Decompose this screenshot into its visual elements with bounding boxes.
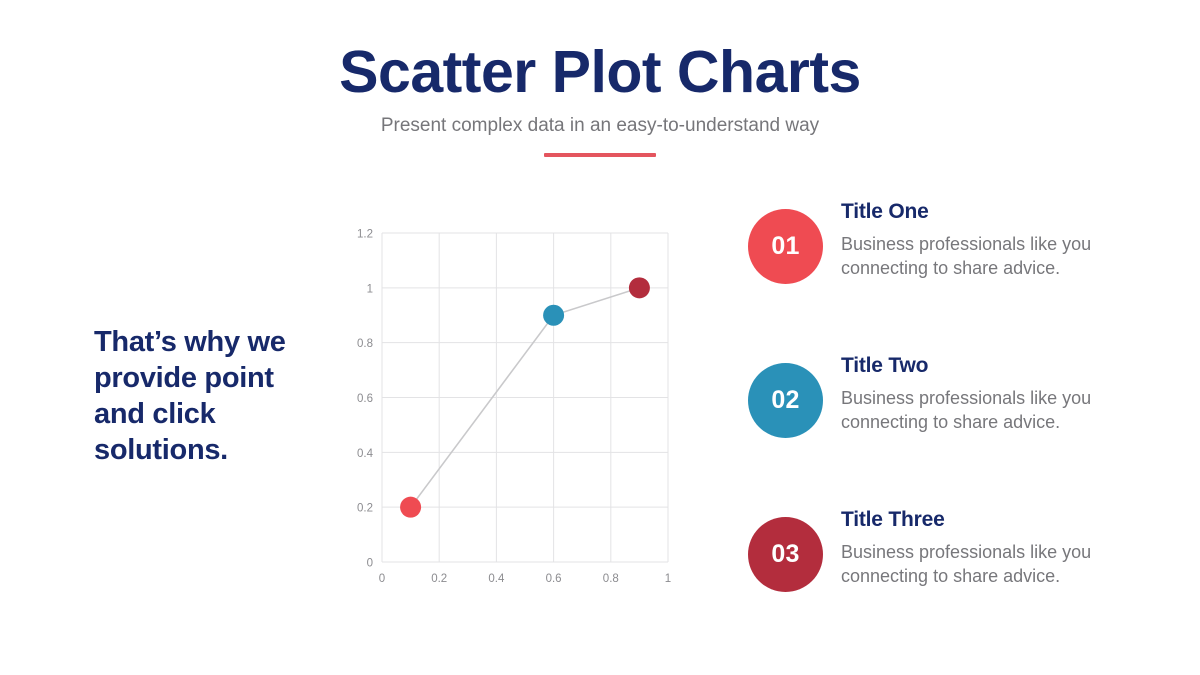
x-axis-tick-label: 0.6	[546, 573, 562, 585]
data-point-marker-03[interactable]	[629, 277, 650, 298]
y-axis-tick-label: 1	[367, 283, 373, 295]
feature-description: Business professionals like you connecti…	[841, 540, 1101, 588]
feature-body: Title Three Business professionals like …	[841, 508, 1168, 588]
feature-description: Business professionals like you connecti…	[841, 386, 1101, 434]
list-item[interactable]: 03 Title Three Business professionals li…	[748, 508, 1168, 600]
x-axis-tick-label: 0.8	[603, 573, 619, 585]
feature-title: Title One	[841, 200, 1168, 223]
feature-description: Business professionals like you connecti…	[841, 232, 1101, 280]
y-axis-tick-label: 0.4	[357, 448, 374, 460]
y-axis-tick-label: 0.6	[357, 393, 373, 405]
x-axis-tick-label: 0.4	[488, 573, 505, 585]
feature-body: Title Two Business professionals like yo…	[841, 354, 1168, 434]
y-axis-tick-label: 0.8	[357, 338, 373, 350]
lead-statement: That’s why we provide point and click so…	[94, 325, 329, 469]
feature-title: Title Two	[841, 354, 1168, 377]
x-axis-tick-label: 0	[379, 573, 385, 585]
data-point-marker-01[interactable]	[400, 497, 421, 518]
title-accent-bar	[544, 153, 656, 157]
feature-number-label: 01	[771, 232, 799, 261]
list-item[interactable]: 01 Title One Business professionals like…	[748, 200, 1168, 292]
y-axis-tick-label: 1.2	[357, 229, 373, 241]
feature-list: 01 Title One Business professionals like…	[748, 200, 1168, 600]
x-axis-tick-label: 1	[665, 573, 671, 585]
feature-number-badge-01: 01	[748, 209, 823, 284]
list-item[interactable]: 02 Title Two Business professionals like…	[748, 354, 1168, 446]
feature-number-label: 03	[771, 540, 799, 569]
page-subtitle: Present complex data in an easy-to-under…	[0, 115, 1200, 138]
x-axis-tick-label: 0.2	[431, 573, 447, 585]
feature-body: Title One Business professionals like yo…	[841, 200, 1168, 280]
feature-title: Title Three	[841, 508, 1168, 531]
feature-number-label: 02	[771, 386, 799, 415]
y-axis-tick-label: 0	[367, 558, 373, 570]
y-axis-tick-label: 0.2	[357, 503, 373, 515]
page-title: Scatter Plot Charts	[0, 42, 1200, 104]
feature-number-badge-03: 03	[748, 517, 823, 592]
scatter-chart: 00.20.40.60.811.200.20.40.60.81	[340, 220, 690, 590]
slide-header: Scatter Plot Charts Present complex data…	[0, 42, 1200, 157]
scatter-chart-canvas: 00.20.40.60.811.200.20.40.60.81	[340, 220, 690, 590]
feature-number-badge-02: 02	[748, 363, 823, 438]
data-point-marker-02[interactable]	[543, 305, 564, 326]
